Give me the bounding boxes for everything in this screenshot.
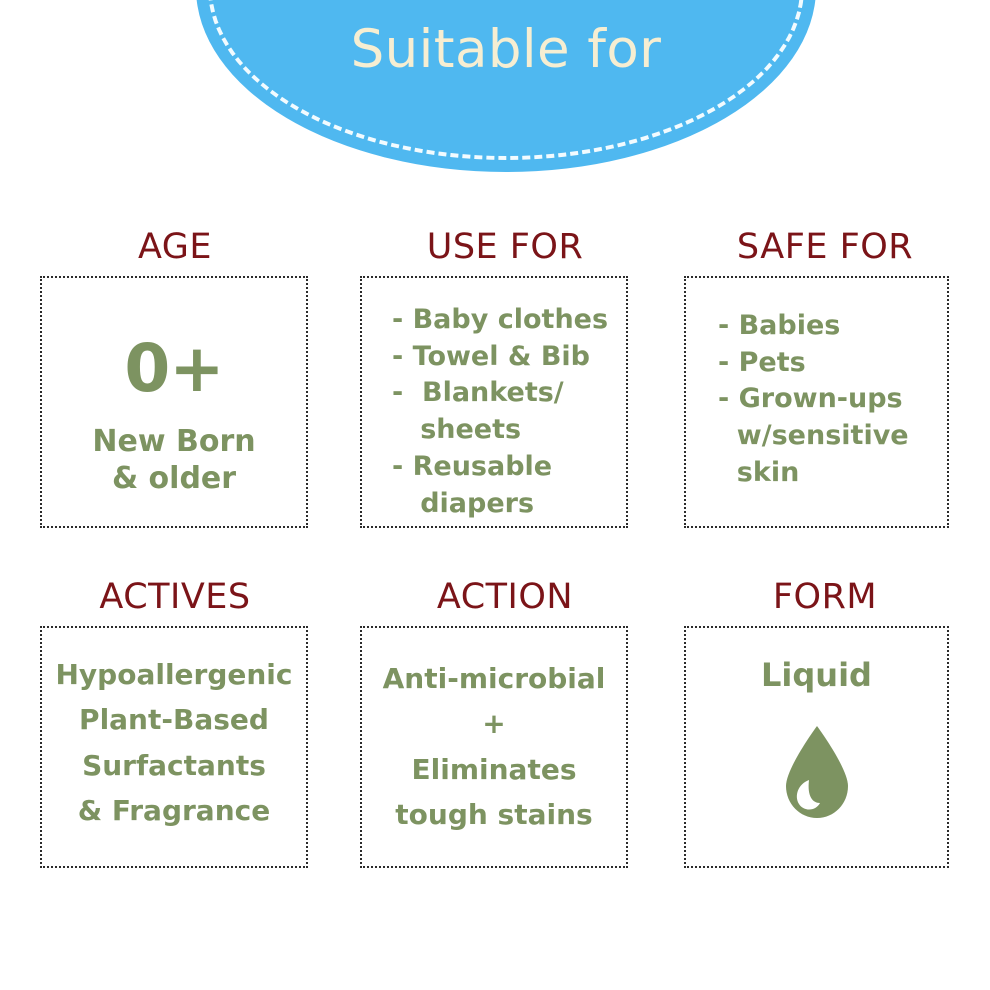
card-row-top: AGE 0+ New Born & older USE FOR - Baby c… [0, 228, 990, 578]
age-description-line-1: New Born [42, 424, 306, 461]
card-safe-for: SAFE FOR - Babies - Pets - Grown-ups w/s… [670, 228, 980, 578]
card-age-heading: AGE [10, 228, 340, 276]
actives-line: Surfactants [42, 743, 306, 788]
card-action: ACTION Anti-microbial + Eliminates tough… [340, 578, 670, 878]
card-action-box: Anti-microbial + Eliminates tough stains [360, 626, 628, 868]
card-form: FORM Liquid [670, 578, 980, 878]
list-item: - Blankets/ [392, 375, 626, 412]
safe-for-list: - Babies - Pets - Grown-ups w/sensitive … [718, 308, 947, 492]
actives-content: Hypoallergenic Plant-Based Surfactants &… [42, 652, 306, 833]
action-line: Anti-microbial [362, 656, 626, 701]
list-item: - Babies [718, 308, 947, 345]
list-item: skin [718, 455, 947, 492]
use-for-content: - Baby clothes - Towel & Bib - Blankets/… [362, 302, 626, 522]
action-line: + [362, 701, 626, 746]
card-use-for-heading: USE FOR [340, 228, 670, 276]
list-item: w/sensitive [718, 418, 947, 455]
safe-for-content: - Babies - Pets - Grown-ups w/sensitive … [686, 308, 947, 492]
list-item: - Reusable [392, 449, 626, 486]
card-actives-heading: ACTIVES [10, 578, 340, 626]
age-description: New Born & older [42, 424, 306, 497]
age-description-line-2: & older [42, 461, 306, 498]
card-safe-for-box: - Babies - Pets - Grown-ups w/sensitive … [684, 276, 949, 528]
actives-line: & Fragrance [42, 788, 306, 833]
card-actives: ACTIVES Hypoallergenic Plant-Based Surfa… [10, 578, 340, 878]
card-use-for-box: - Baby clothes - Towel & Bib - Blankets/… [360, 276, 628, 528]
form-value: Liquid [686, 656, 947, 694]
list-item: - Baby clothes [392, 302, 626, 339]
card-safe-for-heading: SAFE FOR [670, 228, 980, 276]
infographic-page: Suitable for AGE 0+ New Born & older USE… [0, 0, 990, 990]
card-actives-box: Hypoallergenic Plant-Based Surfactants &… [40, 626, 308, 868]
banner-ellipse: Suitable for [196, 0, 816, 172]
card-form-box: Liquid [684, 626, 949, 868]
list-item: - Grown-ups [718, 381, 947, 418]
list-item: diapers [392, 486, 626, 523]
card-age-box: 0+ New Born & older [40, 276, 308, 528]
list-item: sheets [392, 412, 626, 449]
age-value: 0+ [42, 336, 306, 402]
card-use-for: USE FOR - Baby clothes - Towel & Bib - B… [340, 228, 670, 578]
water-drop-icon [686, 724, 947, 825]
card-action-heading: ACTION [340, 578, 670, 626]
card-form-heading: FORM [670, 578, 980, 626]
action-line: tough stains [362, 792, 626, 837]
list-item: - Pets [718, 345, 947, 382]
use-for-list: - Baby clothes - Towel & Bib - Blankets/… [392, 302, 626, 522]
actives-line: Plant-Based [42, 697, 306, 742]
page-title: Suitable for [196, 23, 816, 76]
action-line: Eliminates [362, 747, 626, 792]
card-age: AGE 0+ New Born & older [10, 228, 340, 578]
card-grid: AGE 0+ New Born & older USE FOR - Baby c… [0, 228, 990, 878]
list-item: - Towel & Bib [392, 339, 626, 376]
actives-line: Hypoallergenic [42, 652, 306, 697]
action-content: Anti-microbial + Eliminates tough stains [362, 656, 626, 837]
card-row-bottom: ACTIVES Hypoallergenic Plant-Based Surfa… [0, 578, 990, 878]
